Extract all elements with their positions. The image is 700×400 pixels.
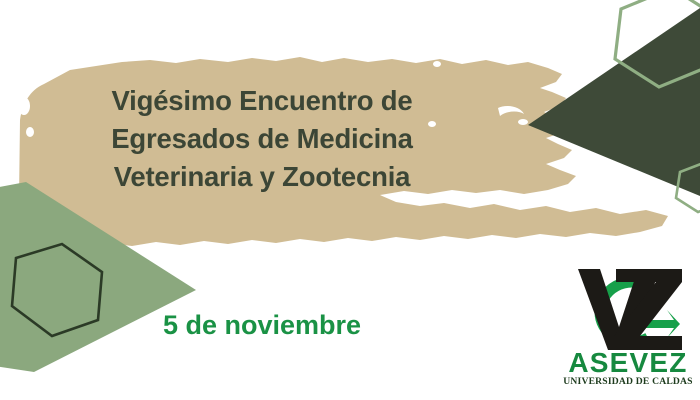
- logo-subtext: UNIVERSIDAD DE CALDAS: [562, 376, 694, 387]
- event-poster: Vigésimo Encuentro de Egresados de Medic…: [0, 0, 700, 400]
- logo-wordmark: ASEVEZ: [562, 348, 694, 378]
- title-line-1: Vigésimo Encuentro de: [52, 82, 472, 120]
- event-date: 5 de noviembre: [52, 310, 472, 341]
- letter-z: [614, 269, 682, 350]
- vz-monogram-icon: [570, 266, 686, 350]
- brush-speck-e: [518, 119, 528, 125]
- brush-speck-a: [18, 97, 30, 115]
- asevez-logo: ASEVEZ UNIVERSIDAD DE CALDAS: [562, 266, 694, 392]
- brush-speck-c: [433, 61, 441, 67]
- title-line-2: Egresados de Medicina: [52, 120, 472, 158]
- page-title: Vigésimo Encuentro de Egresados de Medic…: [52, 82, 472, 196]
- brush-speck-b: [26, 127, 34, 137]
- title-line-3: Veterinaria y Zootecnia: [52, 158, 472, 196]
- brush-gap-fleck-large: [222, 256, 500, 286]
